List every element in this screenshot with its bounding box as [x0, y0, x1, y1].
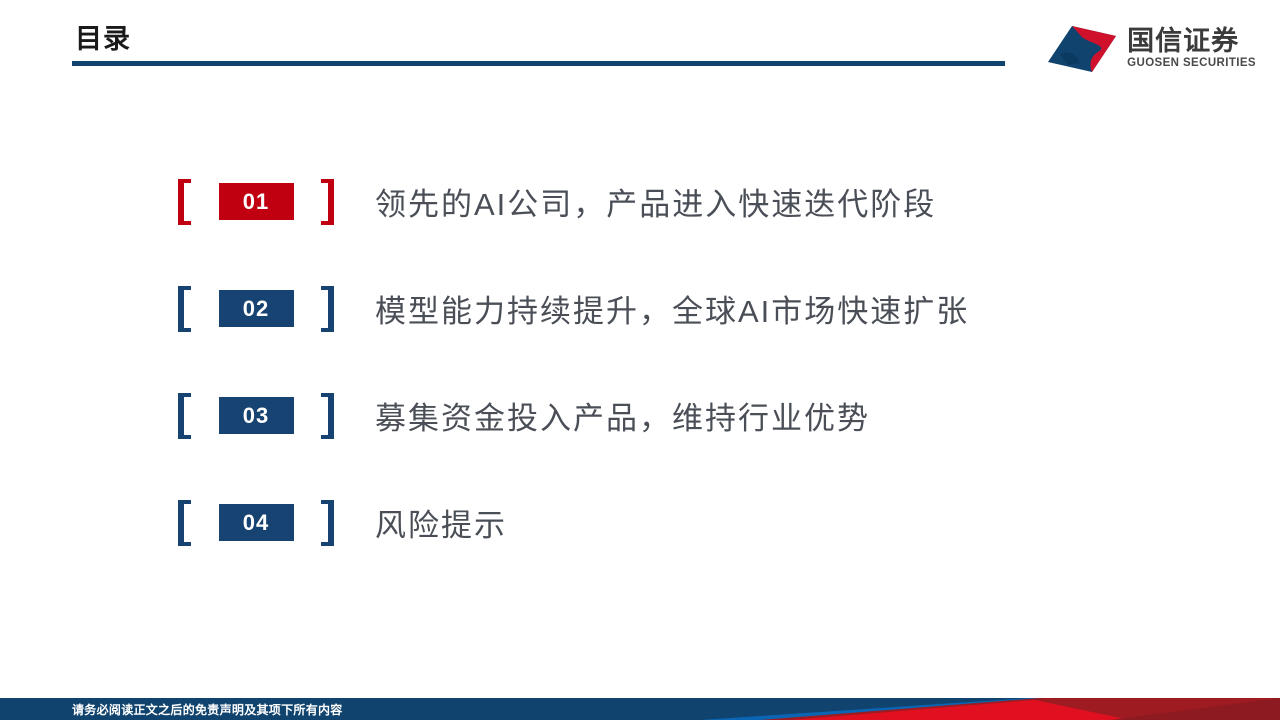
toc-item[interactable]: 03 募集资金投入产品，维持行业优势	[0, 362, 1280, 469]
toc-number: 04	[219, 504, 294, 541]
footer-disclaimer: 请务必阅读正文之后的免责声明及其项下所有内容	[72, 698, 343, 720]
toc-number: 01	[219, 183, 294, 220]
toc-item-label: 募集资金投入产品，维持行业优势	[375, 393, 870, 438]
toc-item-label: 领先的AI公司，产品进入快速迭代阶段	[375, 179, 936, 224]
toc-item[interactable]: 02 模型能力持续提升，全球AI市场快速扩张	[0, 255, 1280, 362]
bracket-right-icon	[321, 286, 334, 332]
toc-item-label: 模型能力持续提升，全球AI市场快速扩张	[375, 286, 969, 331]
toc-item[interactable]: 04 风险提示	[0, 469, 1280, 576]
table-of-contents: 01 领先的AI公司，产品进入快速迭代阶段 02 模型能力持续提升，全球AI市场…	[0, 148, 1280, 576]
toc-number-badge: 04	[178, 500, 334, 546]
page-title: 目录	[75, 26, 131, 53]
toc-number-badge: 01	[178, 179, 334, 225]
title-underline-rule	[72, 61, 1005, 66]
footer-bar: 请务必阅读正文之后的免责声明及其项下所有内容	[0, 698, 1280, 720]
bracket-left-icon	[178, 286, 191, 332]
logo-text: 国信证券 GUOSEN SECURITIES	[1127, 27, 1256, 70]
bracket-left-icon	[178, 179, 191, 225]
logo-name-en: GUOSEN SECURITIES	[1127, 57, 1256, 71]
guosen-logo-mark-icon	[1046, 23, 1118, 75]
bracket-left-icon	[178, 500, 191, 546]
logo-name-cn: 国信证券	[1127, 27, 1239, 55]
toc-number: 03	[219, 397, 294, 434]
toc-item-label: 风险提示	[375, 500, 507, 545]
bracket-left-icon	[178, 393, 191, 439]
toc-item[interactable]: 01 领先的AI公司，产品进入快速迭代阶段	[0, 148, 1280, 255]
toc-number-badge: 02	[178, 286, 334, 332]
toc-number-badge: 03	[178, 393, 334, 439]
bracket-right-icon	[321, 393, 334, 439]
toc-number: 02	[219, 290, 294, 327]
company-logo: 国信证券 GUOSEN SECURITIES	[1046, 20, 1256, 78]
bracket-right-icon	[321, 179, 334, 225]
bracket-right-icon	[321, 500, 334, 546]
